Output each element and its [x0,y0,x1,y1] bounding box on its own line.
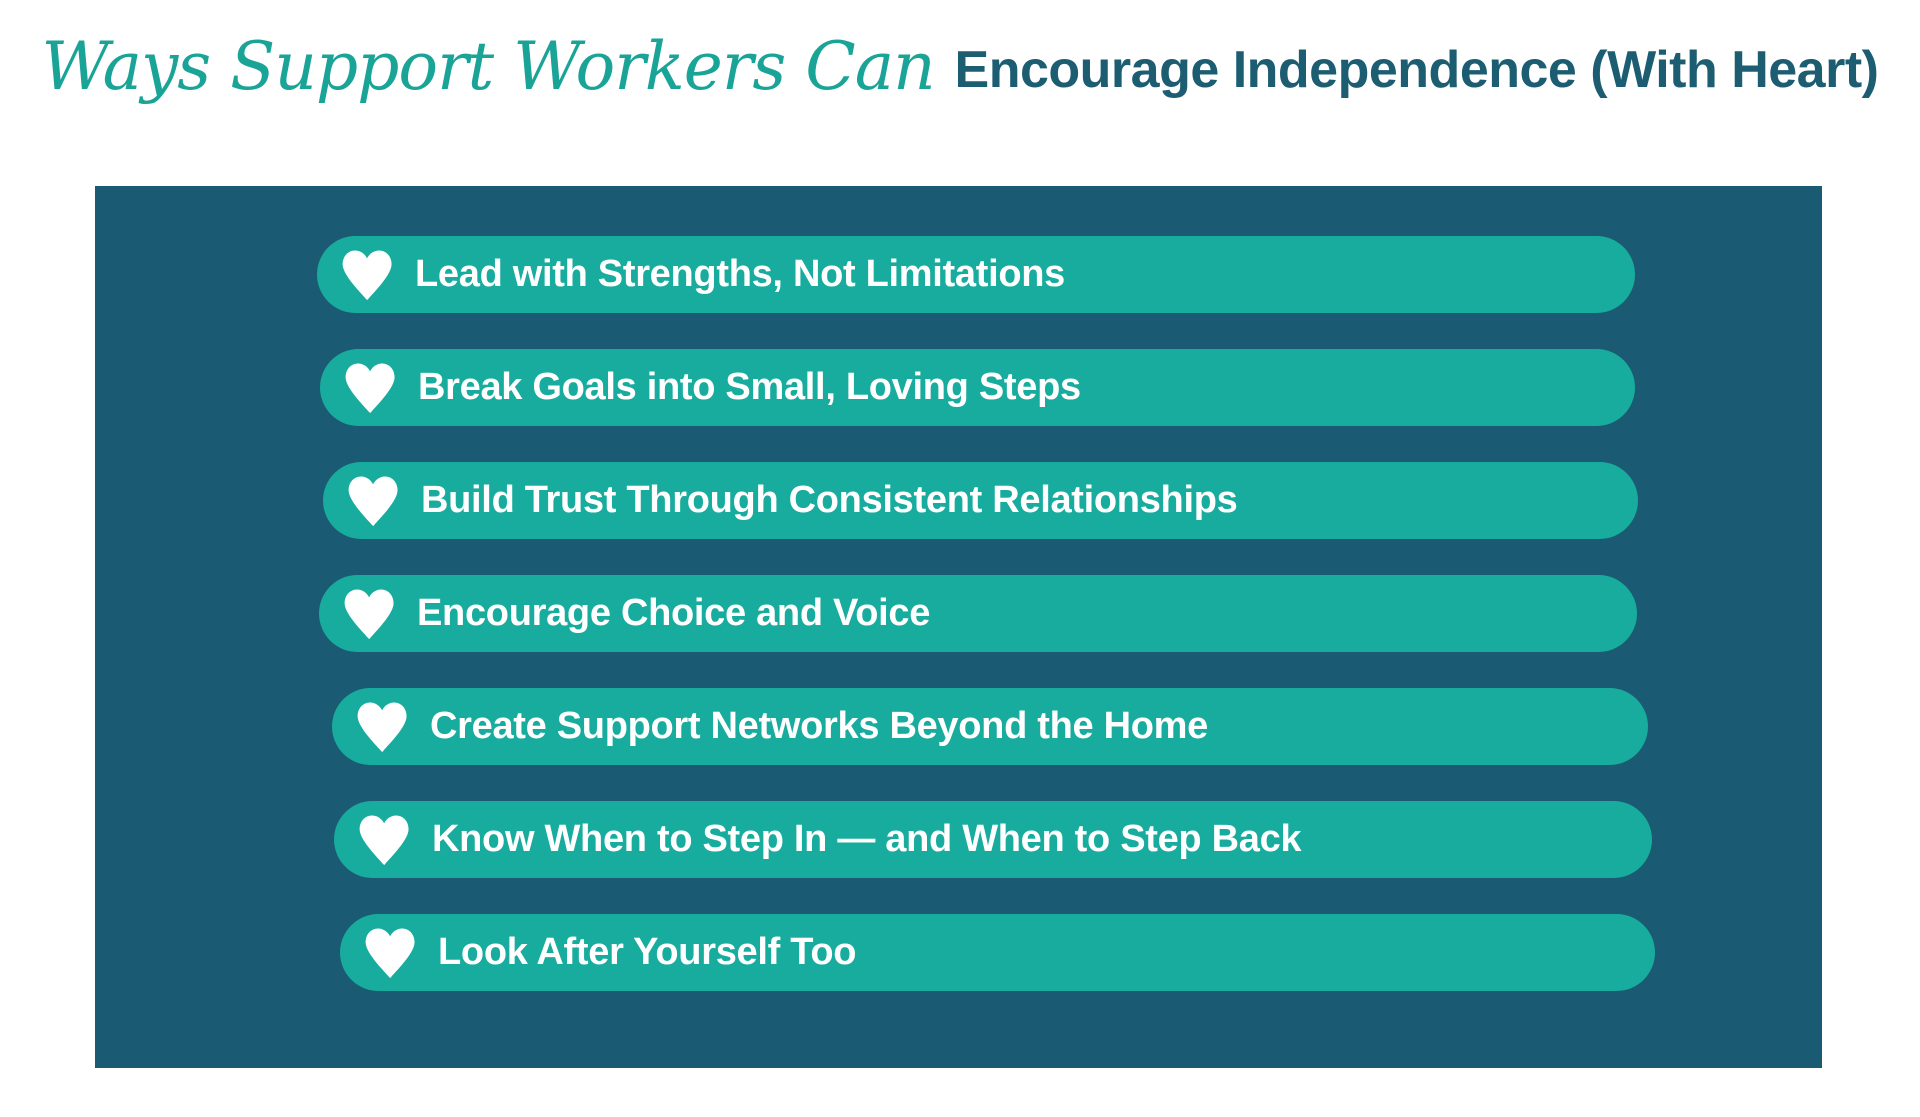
heart-icon [345,474,403,528]
page-title: Ways Support Workers Can Encourage Indep… [42,32,1879,98]
pill-row[interactable]: Know When to Step In — and When to Step … [334,801,1652,878]
pill-row[interactable]: Encourage Choice and Voice [319,575,1637,652]
heart-icon [354,700,412,754]
pill-row[interactable]: Lead with Strengths, Not Limitations [317,236,1635,313]
heart-icon [342,361,400,415]
pill-label: Know When to Step In — and When to Step … [432,820,1301,858]
content-panel: Lead with Strengths, Not LimitationsBrea… [95,186,1822,1068]
pill-row[interactable]: Create Support Networks Beyond the Home [332,688,1648,765]
page-title-bold-part: Encourage Independence (With Heart) [941,41,1879,99]
heart-icon [356,813,414,867]
pill-label: Encourage Choice and Voice [417,594,930,632]
page-title-script-part: Ways Support Workers Can [42,28,941,105]
pill-row[interactable]: Build Trust Through Consistent Relations… [323,462,1638,539]
pill-label: Build Trust Through Consistent Relations… [421,481,1237,519]
heart-icon [339,248,397,302]
pill-list: Lead with Strengths, Not LimitationsBrea… [95,186,1822,1068]
pill-label: Create Support Networks Beyond the Home [430,707,1208,745]
heart-icon [341,587,399,641]
pill-label: Break Goals into Small, Loving Steps [418,368,1081,406]
pill-row[interactable]: Look After Yourself Too [340,914,1655,991]
pill-label: Look After Yourself Too [438,933,856,971]
pill-row[interactable]: Break Goals into Small, Loving Steps [320,349,1635,426]
pill-label: Lead with Strengths, Not Limitations [415,255,1065,293]
title-bar: Ways Support Workers Can Encourage Indep… [0,0,1920,186]
heart-icon [362,926,420,980]
